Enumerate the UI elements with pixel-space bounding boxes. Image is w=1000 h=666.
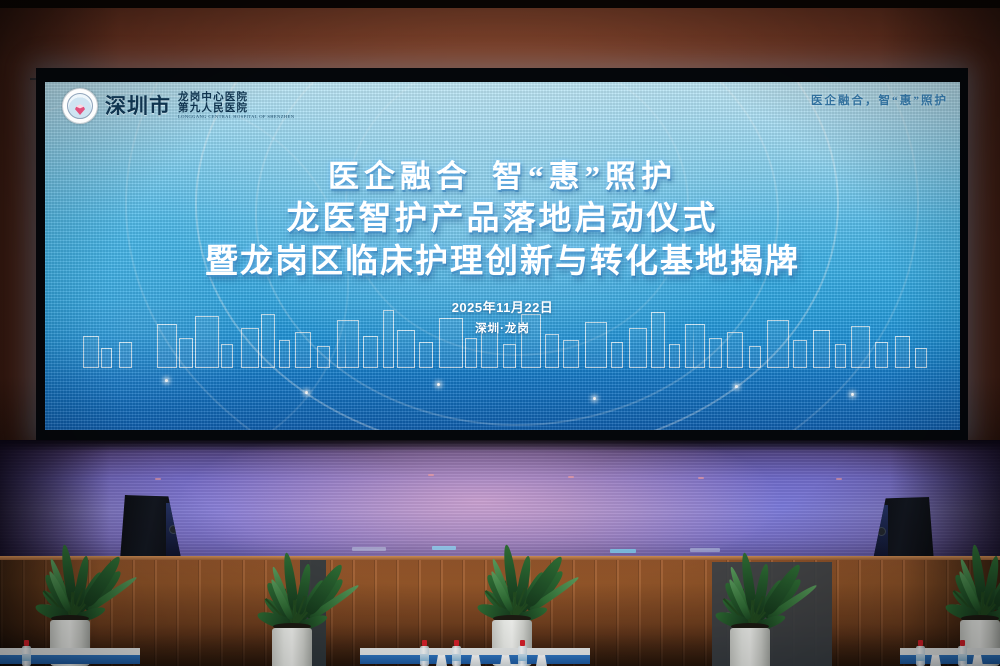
skyline-building bbox=[279, 340, 290, 368]
water-bottle bbox=[958, 640, 967, 666]
skyline-building bbox=[611, 342, 623, 368]
headline-line-1-right: 智“惠”照护 bbox=[492, 159, 677, 194]
light-spark-icon bbox=[735, 385, 738, 388]
logo-city-name: 深圳市 bbox=[105, 96, 171, 117]
hospital-seal-icon bbox=[62, 88, 98, 124]
floor-tape-marker bbox=[352, 547, 386, 551]
headline-line-1: 医企融合智“惠”照护 bbox=[45, 158, 960, 196]
skyline-building bbox=[221, 344, 233, 368]
skyline-building bbox=[101, 348, 112, 368]
light-spark-icon bbox=[437, 383, 440, 386]
bottle-label bbox=[22, 654, 31, 661]
headline-line-1-left: 医企融合 bbox=[328, 159, 472, 194]
skyline-building bbox=[83, 336, 99, 368]
potted-plant-4 bbox=[690, 554, 810, 666]
skyline-building bbox=[727, 332, 743, 368]
skyline-building bbox=[119, 342, 132, 368]
front-table-surface bbox=[900, 648, 1000, 655]
skyline-building bbox=[419, 342, 433, 368]
skyline-building bbox=[875, 342, 888, 368]
bottle-label bbox=[420, 654, 429, 661]
skyline-building bbox=[749, 346, 761, 368]
event-date: 2025年11月22日 bbox=[45, 297, 960, 316]
front-table-surface bbox=[0, 648, 140, 655]
skyline-building bbox=[709, 338, 722, 368]
logo-hospital-name-line2: 第九人民医院 bbox=[178, 103, 294, 114]
skyline-building bbox=[363, 336, 378, 368]
bottle-cap bbox=[24, 640, 29, 646]
front-table-cloth bbox=[0, 655, 140, 664]
plant-pot bbox=[730, 628, 770, 666]
water-bottle bbox=[452, 640, 461, 666]
skyline-building bbox=[465, 338, 477, 368]
water-bottle bbox=[22, 640, 31, 666]
logo-english-name: LONGGANG CENTRAL HOSPITAL OF SHENZHEN bbox=[178, 115, 294, 120]
conference-stage-photo: 深圳市 龙岗中心医院 第九人民医院 LONGGANG CENTRAL HOSPI… bbox=[0, 0, 1000, 666]
corner-slogan: 医企融合，智“惠”照护 bbox=[811, 92, 948, 108]
skyline-building bbox=[669, 344, 680, 368]
skyline-building bbox=[317, 346, 330, 368]
floor-marker bbox=[698, 477, 704, 479]
floor-tape-marker bbox=[610, 549, 636, 553]
light-spark-icon bbox=[305, 391, 308, 394]
plant-pot bbox=[272, 628, 312, 666]
floor-marker bbox=[428, 474, 434, 476]
floor-marker bbox=[568, 476, 574, 478]
floor-marker bbox=[155, 478, 161, 480]
bottle-cap bbox=[918, 640, 923, 646]
skyline-building bbox=[835, 344, 846, 368]
headline-line-2: 龙医智护产品落地启动仪式 bbox=[45, 198, 960, 240]
potted-plant-2 bbox=[232, 554, 352, 666]
light-spark-icon bbox=[165, 379, 168, 382]
bottle-cap bbox=[454, 640, 459, 646]
water-bottle bbox=[518, 640, 527, 666]
bottle-cap bbox=[422, 640, 427, 646]
bottle-cap bbox=[960, 640, 965, 646]
bottle-cap bbox=[520, 640, 525, 646]
bottle-label bbox=[452, 654, 461, 661]
skyline-building bbox=[295, 332, 311, 368]
bottle-label bbox=[518, 654, 527, 661]
floor-tape-marker bbox=[690, 548, 720, 552]
front-table-surface bbox=[360, 648, 590, 655]
light-spark-icon bbox=[851, 393, 854, 396]
headline-line-3: 暨龙岗区临床护理创新与转化基地揭牌 bbox=[45, 241, 960, 283]
skyline-building bbox=[915, 348, 927, 368]
water-bottle bbox=[420, 640, 429, 666]
skyline-building bbox=[179, 338, 193, 368]
water-bottle bbox=[916, 640, 925, 666]
ceiling-shadow-band bbox=[0, 0, 1000, 8]
bottle-label bbox=[916, 654, 925, 661]
skyline-building bbox=[563, 340, 579, 368]
front-table-cloth bbox=[900, 655, 1000, 664]
event-location: 深圳·龙岗 bbox=[45, 320, 960, 336]
bottle-label bbox=[958, 654, 967, 661]
skyline-building bbox=[895, 336, 910, 368]
logo-hospital-name-line1: 龙岗中心医院 bbox=[178, 92, 294, 103]
light-spark-icon bbox=[593, 397, 596, 400]
hospital-logo: 深圳市 龙岗中心医院 第九人民医院 LONGGANG CENTRAL HOSPI… bbox=[62, 88, 294, 124]
skyline-building bbox=[545, 334, 559, 368]
skyline-building bbox=[793, 340, 807, 368]
event-headline-block: 医企融合智“惠”照护 龙医智护产品落地启动仪式 暨龙岗区临床护理创新与转化基地揭… bbox=[45, 158, 960, 336]
floor-marker bbox=[836, 478, 842, 480]
